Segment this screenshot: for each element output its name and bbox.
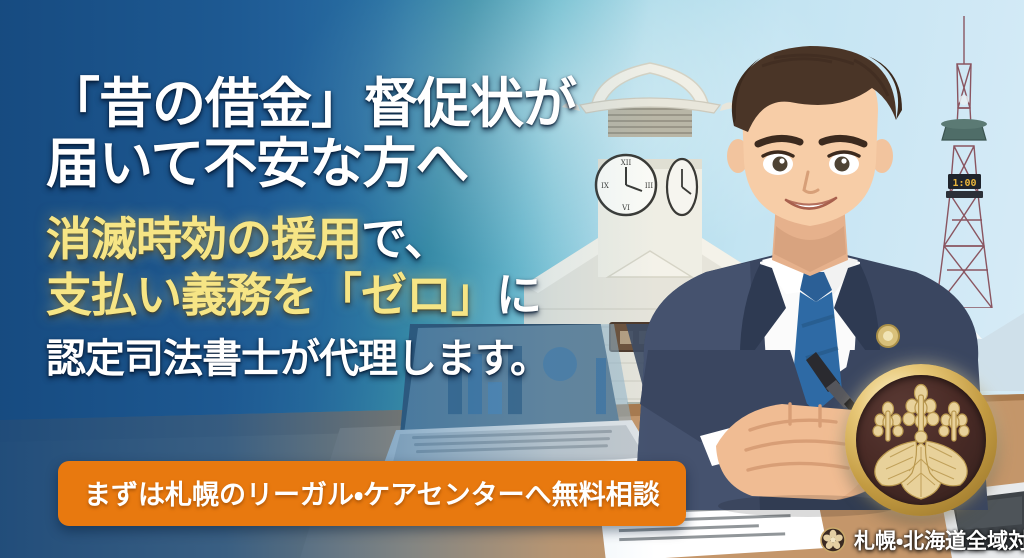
legal-service-banner: 1:00 — [0, 0, 1024, 558]
subheadline-line-1: 消滅時効の援用で、 — [46, 211, 666, 267]
headline-line-2: 届いて不安な方へ — [46, 134, 666, 194]
tagline: 認定司法書士が代理します。 — [46, 335, 666, 383]
sakura-seal-icon — [820, 527, 846, 553]
copy-block: 「昔の借金」督促状が 届いて不安な方へ 消滅時効の援用で、 支払い義務を「ゼロ」… — [46, 74, 666, 383]
subheadline-line-2: 支払い義務を「ゼロ」に — [46, 267, 666, 323]
location-coverage-badge: 札幌・北海道全域対応 — [820, 525, 1024, 555]
location-coverage-label: 札幌・北海道全域対応 — [854, 525, 1024, 555]
subheadline-white-1: で、 — [361, 213, 449, 265]
headline-line-1: 「昔の借金」督促状が — [46, 74, 666, 134]
subheadline-white-2: に — [496, 269, 541, 321]
free-consultation-cta-button[interactable]: まずは札幌のリーガル・ケアセンターへ無料相談 — [58, 461, 686, 526]
subheadline-gold-1: 消滅時効の援用 — [46, 213, 361, 265]
paulownia-crest-icon — [856, 375, 986, 505]
subheadline-gold-2: 支払い義務を「ゼロ」 — [46, 269, 496, 321]
emblem-field — [856, 375, 986, 505]
subheadline: 消滅時効の援用で、 支払い義務を「ゼロ」に — [46, 211, 666, 323]
paulownia-crest-emblem — [845, 364, 997, 516]
headline: 「昔の借金」督促状が 届いて不安な方へ — [46, 74, 666, 195]
